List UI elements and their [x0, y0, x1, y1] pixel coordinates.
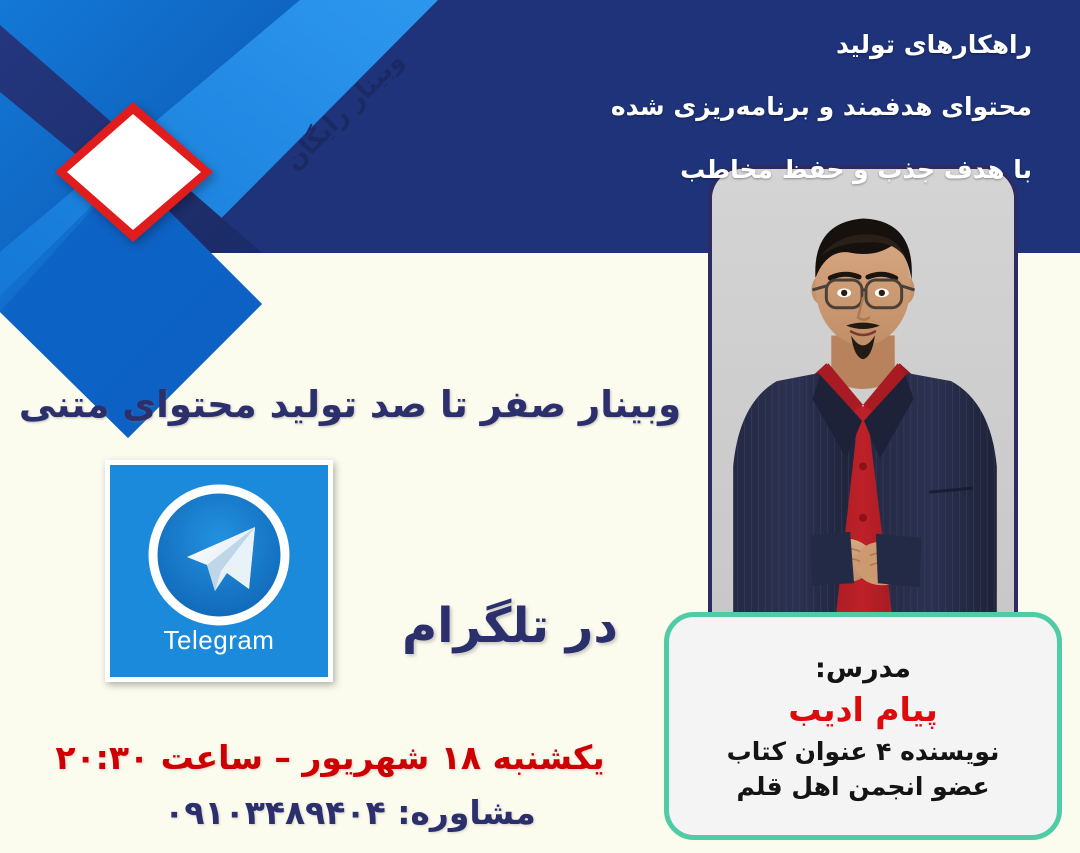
instructor-photo — [708, 165, 1018, 612]
consultation-phone[interactable]: مشاوره: ۰۹۱۰۳۴۸۹۴۰۴ — [40, 793, 660, 832]
schedule-date-time: یکشنبه ۱۸ شهریور – ساعت ۲۰:۳۰ — [0, 738, 660, 777]
instructor-role-label: مدرس: — [815, 653, 911, 684]
header-line-2: محتوای هدفمند و برنامه‌ریزی شده — [392, 94, 1032, 120]
telegram-wordmark: Telegram — [164, 625, 275, 656]
telegram-logo-inner: Telegram — [110, 465, 328, 677]
instructor-credential-1: نویسنده ۴ عنوان کتاب — [727, 737, 1000, 766]
telegram-paper-plane-icon — [143, 479, 295, 631]
header-text-block: راهکارهای تولید محتوای هدفمند و برنامه‌ر… — [392, 32, 1032, 183]
webinar-poster: وبینار رایگان راهکارهای تولید محتوای هدف… — [0, 0, 1080, 853]
instructor-credential-2: عضو انجمن اهل قلم — [736, 772, 989, 801]
instructor-info-box: مدرس: پیام ادیب نویسنده ۴ عنوان کتاب عضو… — [664, 612, 1062, 840]
telegram-logo-card[interactable]: Telegram — [105, 460, 333, 682]
instructor-name: پیام ادیب — [788, 690, 938, 729]
header-line-3: با هدف جذب و حفظ مخاطب — [392, 157, 1032, 183]
header-line-1: راهکارهای تولید — [392, 32, 1032, 58]
page-title: وبینار صفر تا صد تولید محتوای متنی — [10, 383, 690, 426]
instructor-portrait-illustration — [712, 169, 1014, 612]
platform-caption: در تلگرام — [360, 598, 660, 654]
